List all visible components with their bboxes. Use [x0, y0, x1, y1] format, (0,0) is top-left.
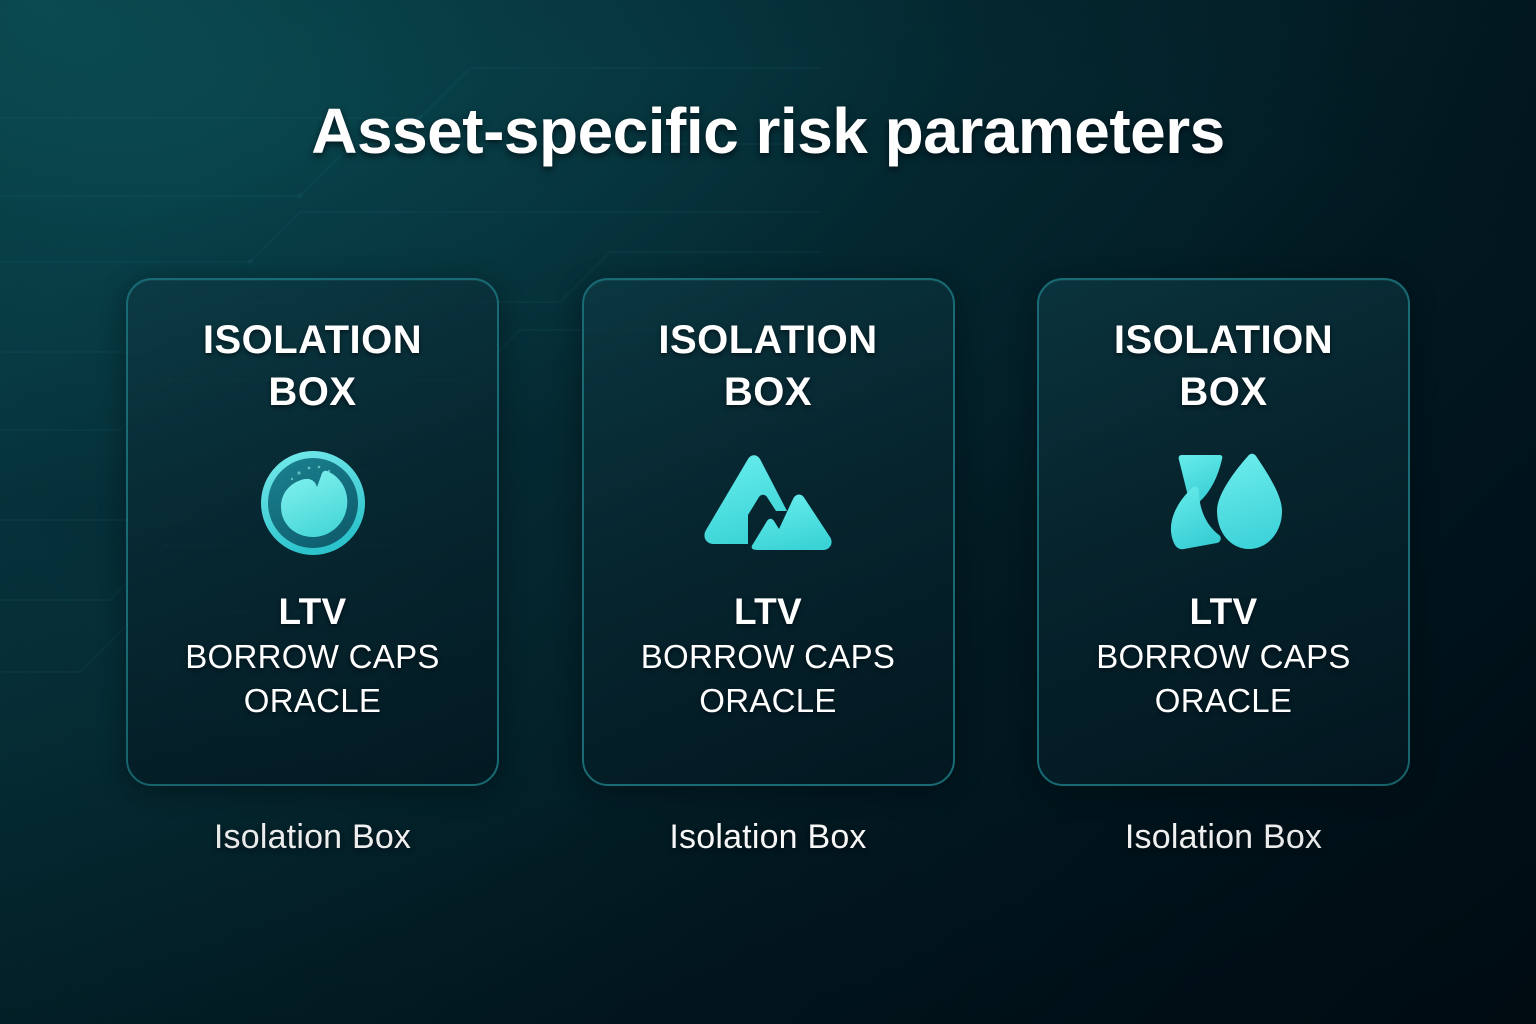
water-droplet-icon [1162, 447, 1286, 559]
card-heading-line-1: ISOLATION [1114, 314, 1333, 366]
card-icon-slot-1 [128, 418, 497, 589]
isolation-box-card-1[interactable]: ISOLATION BOX [126, 278, 499, 786]
card-heading-line-2: BOX [203, 366, 422, 418]
isolation-box-card-3[interactable]: ISOLATION BOX [1037, 278, 1410, 786]
page-title: Asset-specific risk parameters [0, 94, 1536, 168]
card-heading-line-2: BOX [1114, 366, 1333, 418]
slide-canvas: Asset-specific risk parameters ISOLATION… [0, 0, 1536, 1024]
coin-token-icon [257, 447, 369, 559]
card-param-borrow-caps-3: BORROW CAPS [1096, 635, 1351, 680]
mountain-peaks-icon [701, 447, 835, 559]
card-param-ltv-2: LTV [641, 589, 896, 635]
card-param-oracle-3: ORACLE [1096, 679, 1351, 724]
card-param-borrow-caps-1: BORROW CAPS [185, 635, 440, 680]
card-caption-3: Isolation Box [1125, 818, 1322, 857]
card-heading-line-1: ISOLATION [658, 314, 877, 366]
card-heading-3: ISOLATION BOX [1114, 314, 1333, 418]
card-param-oracle-2: ORACLE [641, 679, 896, 724]
isolation-box-column-3: ISOLATION BOX [1037, 278, 1410, 918]
card-heading-line-1: ISOLATION [203, 314, 422, 366]
card-param-oracle-1: ORACLE [185, 679, 440, 724]
card-heading-line-2: BOX [658, 366, 877, 418]
card-param-ltv-3: LTV [1096, 589, 1351, 635]
card-param-ltv-1: LTV [185, 589, 440, 635]
isolation-box-column-1: ISOLATION BOX [126, 278, 499, 918]
isolation-box-card-2[interactable]: ISOLATION BOX [582, 278, 955, 786]
card-caption-1: Isolation Box [214, 818, 411, 857]
card-icon-slot-3 [1039, 418, 1408, 589]
card-icon-slot-2 [584, 418, 953, 589]
card-heading-1: ISOLATION BOX [203, 314, 422, 418]
isolation-box-card-group: ISOLATION BOX [126, 278, 1410, 918]
card-params-1: LTV BORROW CAPS ORACLE [185, 589, 440, 724]
card-params-3: LTV BORROW CAPS ORACLE [1096, 589, 1351, 724]
card-caption-2: Isolation Box [669, 818, 866, 857]
card-param-borrow-caps-2: BORROW CAPS [641, 635, 896, 680]
isolation-box-column-2: ISOLATION BOX [582, 278, 955, 918]
card-heading-2: ISOLATION BOX [658, 314, 877, 418]
card-params-2: LTV BORROW CAPS ORACLE [641, 589, 896, 724]
